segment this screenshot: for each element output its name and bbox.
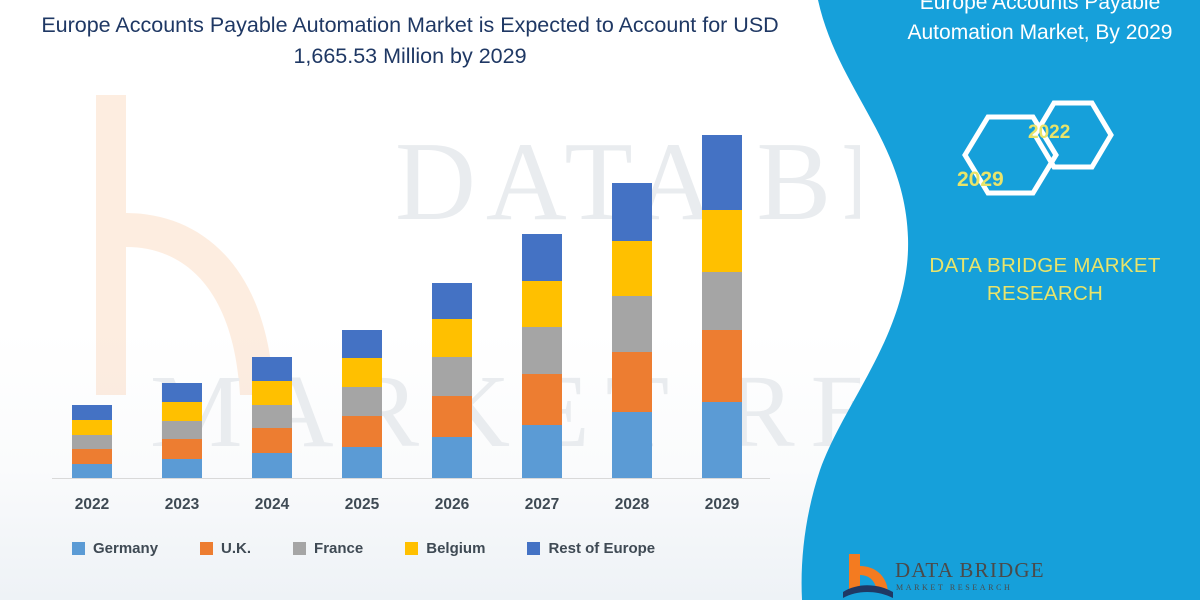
hexagon-group <box>920 95 1150 225</box>
bar-segment-rest-of-europe-2022[interactable] <box>72 405 112 420</box>
legend-label: U.K. <box>221 540 251 557</box>
legend-swatch-icon <box>527 542 540 555</box>
bar-segment-u-k--2026[interactable] <box>432 396 472 437</box>
bar-segment-belgium-2028[interactable] <box>612 241 652 296</box>
bar-segment-belgium-2025[interactable] <box>342 358 382 387</box>
plot-area: 20222023202420252026202720282029 <box>0 0 860 600</box>
bar-segment-germany-2026[interactable] <box>432 437 472 478</box>
x-tick-2025: 2025 <box>322 496 402 514</box>
x-tick-2026: 2026 <box>412 496 492 514</box>
bar-segment-rest-of-europe-2029[interactable] <box>702 135 742 210</box>
legend-label: France <box>314 540 363 557</box>
logo-name: DATA BRIDGE <box>895 558 1045 583</box>
legend-swatch-icon <box>72 542 85 555</box>
bar-segment-rest-of-europe-2026[interactable] <box>432 283 472 319</box>
bar-segment-france-2027[interactable] <box>522 327 562 374</box>
legend-item-rest-of-europe[interactable]: Rest of Europe <box>527 540 655 557</box>
brand-name-text: DATA BRIDGE MARKET RESEARCH <box>890 252 1200 308</box>
chart-legend: GermanyU.K.FranceBelgiumRest of Europe <box>72 540 697 557</box>
bar-segment-germany-2029[interactable] <box>702 402 742 478</box>
bar-segment-rest-of-europe-2025[interactable] <box>342 330 382 358</box>
legend-label: Germany <box>93 540 158 557</box>
legend-swatch-icon <box>200 542 213 555</box>
bar-group-2025[interactable] <box>342 330 382 478</box>
bar-segment-rest-of-europe-2028[interactable] <box>612 183 652 241</box>
bar-segment-u-k--2022[interactable] <box>72 449 112 464</box>
bar-segment-germany-2025[interactable] <box>342 447 382 478</box>
bar-segment-france-2025[interactable] <box>342 387 382 416</box>
logo-tagline: MARKET RESEARCH <box>896 583 1012 592</box>
bar-segment-rest-of-europe-2024[interactable] <box>252 357 292 381</box>
legend-item-france[interactable]: France <box>293 540 363 557</box>
legend-item-belgium[interactable]: Belgium <box>405 540 485 557</box>
bar-segment-belgium-2029[interactable] <box>702 210 742 272</box>
right-panel-content: Europe Accounts Payable Automation Marke… <box>900 0 1200 600</box>
bar-segment-france-2029[interactable] <box>702 272 742 330</box>
bar-group-2028[interactable] <box>612 183 652 478</box>
legend-label: Belgium <box>426 540 485 557</box>
bar-segment-belgium-2024[interactable] <box>252 381 292 405</box>
bar-group-2026[interactable] <box>432 283 472 478</box>
bar-segment-france-2023[interactable] <box>162 421 202 439</box>
bar-segment-belgium-2027[interactable] <box>522 281 562 327</box>
bar-segment-france-2026[interactable] <box>432 357 472 396</box>
bar-segment-rest-of-europe-2023[interactable] <box>162 383 202 402</box>
bar-segment-germany-2024[interactable] <box>252 453 292 478</box>
data-bridge-logo: DATA BRIDGE MARKET RESEARCH <box>843 552 1103 600</box>
legend-swatch-icon <box>293 542 306 555</box>
bar-segment-u-k--2027[interactable] <box>522 374 562 425</box>
hex-2022-label: 2022 <box>1028 122 1070 144</box>
bar-segment-rest-of-europe-2027[interactable] <box>522 234 562 281</box>
bar-segment-belgium-2022[interactable] <box>72 420 112 435</box>
chart-panel: DATA BRIDGE MARKET RESEARCH Europe Accou… <box>0 0 860 600</box>
logo-mark-icon <box>843 552 893 600</box>
infographic-page: DATA BRIDGE MARKET RESEARCH Europe Accou… <box>0 0 1200 600</box>
x-tick-2027: 2027 <box>502 496 582 514</box>
bar-segment-belgium-2026[interactable] <box>432 319 472 357</box>
bar-group-2024[interactable] <box>252 357 292 478</box>
x-axis-line <box>52 478 770 479</box>
bar-segment-belgium-2023[interactable] <box>162 402 202 421</box>
bar-group-2027[interactable] <box>522 234 562 478</box>
x-tick-2022: 2022 <box>52 496 132 514</box>
bar-segment-germany-2027[interactable] <box>522 425 562 478</box>
x-tick-2024: 2024 <box>232 496 312 514</box>
legend-swatch-icon <box>405 542 418 555</box>
bar-segment-germany-2028[interactable] <box>612 412 652 478</box>
bar-group-2023[interactable] <box>162 383 202 478</box>
bar-segment-france-2024[interactable] <box>252 405 292 428</box>
x-tick-2023: 2023 <box>142 496 222 514</box>
x-tick-2029: 2029 <box>682 496 762 514</box>
hex-2029-label: 2029 <box>957 168 1004 192</box>
bar-segment-u-k--2029[interactable] <box>702 330 742 402</box>
bar-segment-germany-2022[interactable] <box>72 464 112 478</box>
bar-group-2022[interactable] <box>72 405 112 478</box>
legend-item-germany[interactable]: Germany <box>72 540 158 557</box>
bar-segment-u-k--2025[interactable] <box>342 416 382 447</box>
bar-segment-france-2028[interactable] <box>612 296 652 352</box>
bar-segment-france-2022[interactable] <box>72 435 112 449</box>
bar-segment-u-k--2023[interactable] <box>162 439 202 459</box>
bar-group-2029[interactable] <box>702 135 742 478</box>
bar-segment-u-k--2028[interactable] <box>612 352 652 412</box>
bar-segment-u-k--2024[interactable] <box>252 428 292 453</box>
legend-item-u-k-[interactable]: U.K. <box>200 540 251 557</box>
legend-label: Rest of Europe <box>548 540 655 557</box>
right-panel-title: Europe Accounts Payable Automation Marke… <box>880 0 1200 48</box>
bar-segment-germany-2023[interactable] <box>162 459 202 478</box>
x-tick-2028: 2028 <box>592 496 672 514</box>
